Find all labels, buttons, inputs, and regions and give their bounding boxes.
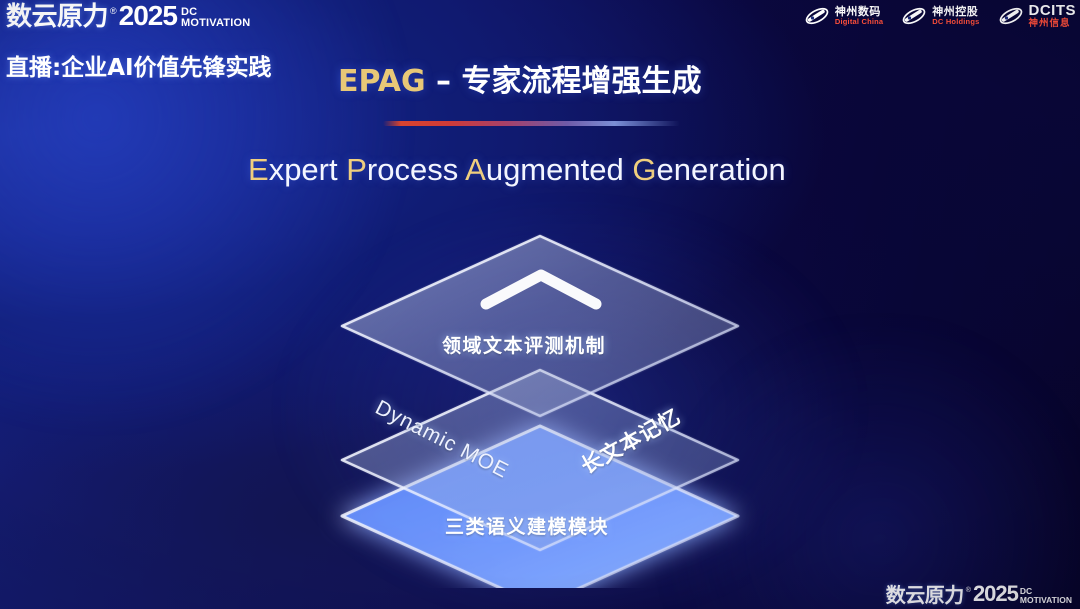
watermark-dc-line2: MOTIVATION [1020,596,1072,605]
logo-dc-holdings-text: 神州控股 DC Holdings [932,6,979,25]
subtitle-rest-process: rocess [367,152,458,187]
logo-cn-name: 神州控股 [932,6,979,18]
swoosh-logo-icon [901,5,927,27]
subtitle-cap-p: P [346,152,367,187]
watermark-year: 2025 [973,583,1018,605]
logo-digital-china: 神州数码 Digital China [804,5,883,27]
subtitle-cap-e: E [248,152,269,187]
brand-year: 2025 [119,2,177,30]
brand-registered-mark: ® [110,7,117,30]
swoosh-logo-icon [998,5,1024,27]
title-chinese: 专家流程增强生成 [461,64,701,99]
brand-dc-line2: MOTIVATION [181,18,250,29]
swoosh-logo-icon [804,5,830,27]
layer-top [342,236,738,416]
partner-logos: 神州数码 Digital China 神州控股 DC Holdings [804,3,1076,29]
title-divider [383,121,680,126]
watermark-name-cn: 数云原力 [886,585,964,605]
logo-en-name: DC Holdings [932,18,979,26]
logo-en-name: DCITS [1029,3,1077,19]
watermark-registered-mark: ® [966,587,971,605]
live-stream-label: 直播:企业AI价值先锋实践 [6,48,272,82]
page-title: EPAG – 专家流程增强生成 [338,56,701,100]
slide-stage: 数云原力 ® 2025 DC MOTIVATION 直播:企业AI价值先锋实践 … [0,0,1080,609]
logo-dc-holdings: 神州控股 DC Holdings [901,5,979,27]
brand-dc-motivation: DC MOTIVATION [181,7,250,30]
brand-name-cn: 数云原力 [6,4,108,30]
subtitle-rest-expert: xpert [269,152,338,187]
subtitle-rest-generation: eneration [656,152,785,187]
title-dash: – [426,64,462,99]
logo-digital-china-text: 神州数码 Digital China [835,6,883,25]
logo-en-name: Digital China [835,18,883,26]
subtitle-cap-g: G [632,152,656,187]
subtitle-rest-augmented: ugmented [486,152,624,187]
subtitle-cap-a: A [465,152,486,187]
footer-watermark: 数云原力 ® 2025 DC MOTIVATION [886,583,1072,605]
logo-dcits: DCITS 神州信息 [998,3,1077,29]
logo-cn-name: 神州数码 [835,6,883,18]
watermark-dc-motivation: DC MOTIVATION [1020,587,1072,605]
page-subtitle: Expert Process Augmented Generation [248,152,786,188]
brand-lockup: 数云原力 ® 2025 DC MOTIVATION [6,2,250,30]
layer-stack-graphic [290,228,790,588]
epag-layer-diagram: 领域文本评测机制 Dynamic MOE 长文本记忆 三类语义建模模块 [290,228,790,588]
logo-dcits-text: DCITS 神州信息 [1029,3,1077,29]
title-acronym: EPAG [338,64,426,99]
logo-cn-name: 神州信息 [1029,19,1077,29]
